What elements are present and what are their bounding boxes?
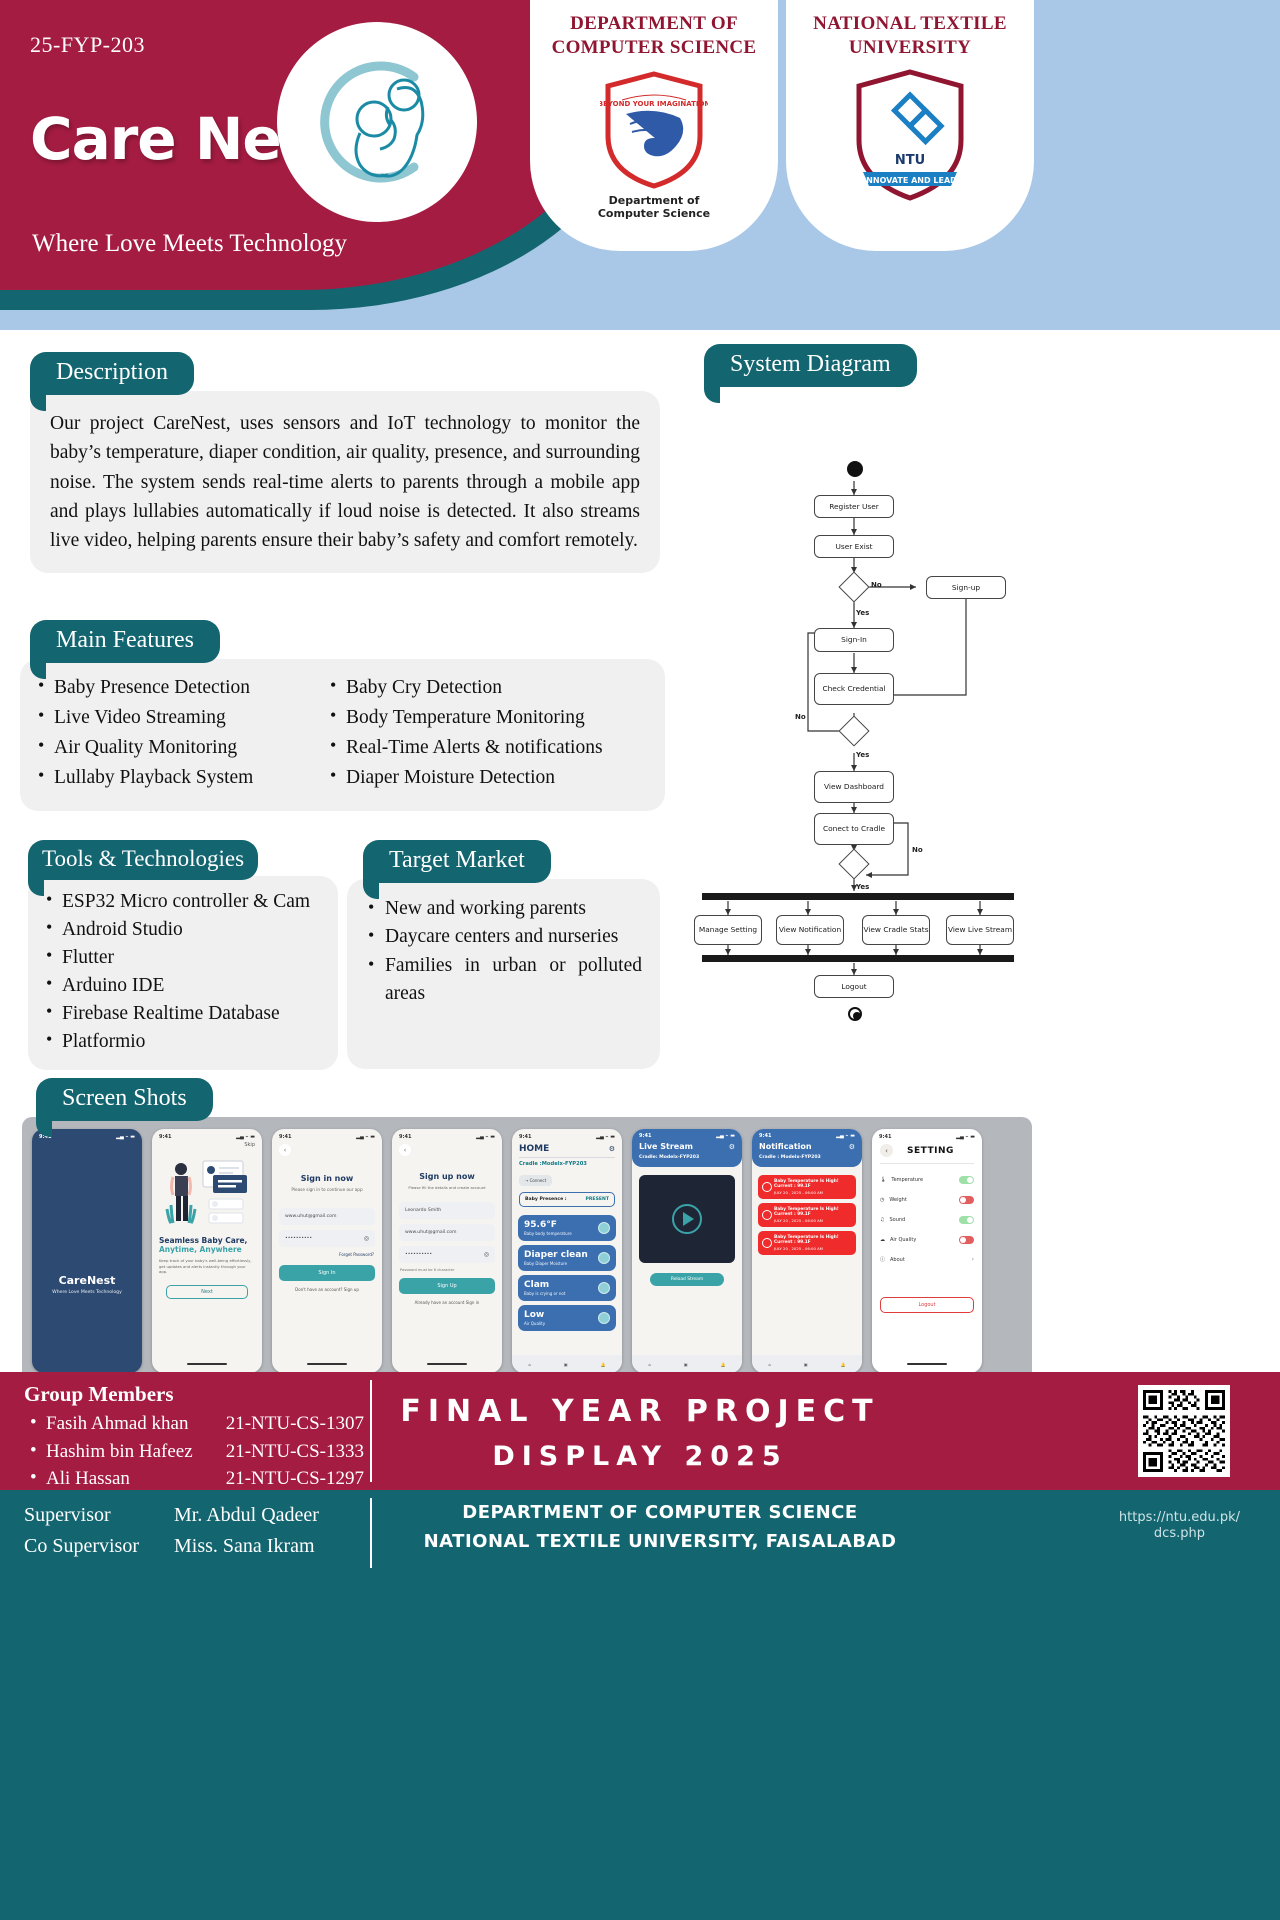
weight-icon: ◷ — [880, 1197, 884, 1203]
alert-current: Current : 99.1F — [774, 1212, 851, 1217]
setting-row-sound[interactable]: ♫Sound — [880, 1210, 974, 1230]
diaper-card: Diaper clean Baby Diaper Moisture — [518, 1245, 616, 1271]
member-name: Fasih Ahmad khan — [46, 1410, 189, 1438]
sign-in-title: Sign in now — [272, 1174, 382, 1183]
target-market-section: Target Market New and working parents Da… — [347, 840, 660, 1069]
home-indicator — [392, 1355, 502, 1373]
logout-button[interactable]: Logout — [880, 1297, 974, 1313]
status-time: 9:41 — [759, 1133, 771, 1139]
setting-row-weight[interactable]: ◷Weight — [880, 1190, 974, 1210]
description-heading: Description — [30, 352, 194, 395]
list-item: Platformio — [42, 1028, 322, 1056]
dept-title-line1: DEPARTMENT OF — [530, 12, 778, 36]
table-row: Fasih Ahmad khan 21-NTU-CS-1307 — [24, 1410, 364, 1438]
status-bar: 9:41 ▂▄ ⌁ ▬ — [272, 1129, 382, 1142]
cry-card: Clam Baby is crying or not — [518, 1275, 616, 1301]
table-row: Ali Hassan 21-NTU-CS-1297 — [24, 1465, 364, 1493]
phone-screenshot-notification: 9:41 ▂▄ ⌁ ▬ Notification ⚙ Cradle : Mode… — [752, 1129, 862, 1373]
footer-divider-top — [370, 1380, 372, 1482]
list-item[interactable]: Baby Temperature Is High! Current : 99.1… — [758, 1175, 856, 1199]
cs-department-shield-icon: BEYOND YOUR IMAGINATION — [530, 70, 778, 190]
list-item: Firebase Realtime Database — [42, 1000, 322, 1028]
tools-heading: Tools & Technologies — [28, 840, 258, 880]
flow-node-register-user: Register User — [814, 495, 894, 518]
onboarding-illustration-icon — [152, 1148, 262, 1234]
main-features-section: Main Features Baby Presence Detection Li… — [20, 620, 665, 811]
poster-header: 25-FYP-203 Care Nest Where Love Meets Te… — [0, 0, 1280, 330]
flow-end-node-core — [853, 1012, 861, 1020]
phone-screenshot-sign-up: 9:41 ▂▄ ⌁ ▬ ‹ Sign up now Please fill th… — [392, 1129, 502, 1373]
flow-node-view-notification: View Notification — [776, 915, 844, 945]
group-members-block: Group Members Fasih Ahmad khan 21-NTU-CS… — [24, 1382, 364, 1493]
cradle-label: Cradle : Modelx-FYP203 — [759, 1155, 855, 1160]
status-icons: ▂▄ ⌁ ▬ — [956, 1134, 975, 1140]
air-quality-label: Air Quality — [524, 1321, 610, 1326]
notification-header: 9:41 ▂▄ ⌁ ▬ Notification ⚙ Cradle : Mode… — [752, 1129, 862, 1167]
list-item: Real-Time Alerts & notifications — [326, 733, 603, 763]
status-time: 9:41 — [519, 1134, 531, 1140]
flow-node-view-dashboard: View Dashboard — [814, 771, 894, 803]
list-item: ESP32 Micro controller & Cam — [42, 888, 322, 916]
flow-join-bar — [702, 955, 1014, 962]
flow-label-yes-1: Yes — [856, 609, 869, 617]
setting-row-about[interactable]: ⓘAbout › — [880, 1250, 974, 1269]
sign-up-subtitle: Please fill the details and create accou… — [392, 1185, 502, 1190]
cosupervisor-name: Miss. Sana Ikram — [174, 1531, 315, 1562]
project-id: 25-FYP-203 — [30, 32, 145, 58]
target-market-body: New and working parents Daycare centers … — [347, 879, 660, 1069]
footer-dept-line2: NATIONAL TEXTILE UNIVERSITY, FAISALABAD — [390, 1531, 930, 1552]
live-stream-title: Live Stream — [639, 1142, 693, 1151]
tools-body: ESP32 Micro controller & Cam Android Stu… — [28, 876, 338, 1070]
alert-list: Baby Temperature Is High! Current : 99.1… — [752, 1175, 862, 1255]
divider — [519, 1157, 615, 1158]
footer-url-line1: https://ntu.edu.pk/ — [1119, 1510, 1240, 1526]
status-icons: ▂▄ ⌁ ▬ — [236, 1134, 255, 1140]
fyp-display-block: FINAL YEAR PROJECT DISPLAY 2025 — [390, 1394, 890, 1472]
home-bar — [187, 1363, 227, 1365]
cradle-label: Cradle: Modelx-FYP203 — [639, 1155, 735, 1160]
email-field[interactable]: www.uhut@gmail.com — [399, 1224, 495, 1241]
list-item: Baby Presence Detection — [34, 673, 326, 703]
status-time: 9:41 — [279, 1134, 291, 1140]
flow-label-yes-3: Yes — [856, 883, 869, 891]
status-icons: ▂▄ ⌁ ▬ — [596, 1134, 615, 1140]
temperature-card: 95.6°F Baby body temperature — [518, 1215, 616, 1241]
group-members-heading: Group Members — [24, 1382, 364, 1407]
list-item: Arduino IDE — [42, 972, 322, 1000]
info-icon: ⓘ — [880, 1256, 885, 1263]
email-field[interactable]: www.uhut@gmail.com — [279, 1208, 375, 1225]
sign-in-subtitle: Please sign in to continue our app — [272, 1187, 382, 1192]
forgot-password-link[interactable]: Forget Password? — [272, 1252, 382, 1257]
fyp-line2: DISPLAY 2025 — [390, 1441, 890, 1472]
ntu-shield-icon: NTU INNOVATE AND LEAD — [786, 68, 1034, 203]
list-item: Diaper Moisture Detection — [326, 763, 603, 793]
temperature-toggle[interactable] — [959, 1176, 974, 1184]
nav-video-icon[interactable]: ▣ — [564, 1362, 568, 1367]
member-roll: 21-NTU-CS-1307 — [218, 1410, 364, 1438]
eye-off-icon[interactable]: ◎ — [364, 1235, 369, 1242]
sound-toggle[interactable] — [959, 1216, 974, 1224]
droplet-icon — [598, 1252, 610, 1264]
status-bar: 9:41 ▂▄ ⌁ ▬ — [392, 1129, 502, 1142]
air-quality-toggle[interactable] — [959, 1236, 974, 1244]
phone-screenshot-sign-in: 9:41 ▂▄ ⌁ ▬ ‹ Sign in now Please sign in… — [272, 1129, 382, 1373]
nav-video-icon[interactable]: ▣ — [684, 1362, 688, 1367]
department-panel: DEPARTMENT OF COMPUTER SCIENCE BEYOND YO… — [530, 0, 778, 251]
flow-node-connect-cradle-label: Conect to Cradle — [823, 824, 885, 833]
password-value: •••••••••• — [285, 1236, 312, 1241]
home-bar — [307, 1363, 347, 1365]
features-column-right: Baby Cry Detection Body Temperature Moni… — [326, 673, 603, 793]
thermometer-icon: 🌡 — [880, 1177, 886, 1183]
nav-alerts-icon[interactable]: 🔔 — [601, 1362, 606, 1367]
setting-label: About — [890, 1257, 905, 1263]
flow-node-manage-setting-label: Manage Setting — [699, 925, 757, 934]
flow-node-view-cradle-stats: View Cradle Stats — [862, 915, 930, 945]
status-time: 9:41 — [639, 1133, 651, 1139]
list-item: Android Studio — [42, 916, 322, 944]
flow-node-view-live-stream: View Live Stream — [946, 915, 1014, 945]
status-icons: ▂▄ ⌁ ▬ — [716, 1133, 735, 1139]
member-name: Hashim bin Hafeez — [46, 1438, 193, 1466]
supervisor-row: Supervisor Mr. Abdul Qadeer — [24, 1500, 319, 1531]
flow-start-node — [847, 461, 863, 477]
target-market-heading: Target Market — [363, 840, 551, 883]
password-hint: Password must be 8 character — [392, 1268, 502, 1272]
list-item: Families in urban or polluted areas — [363, 952, 642, 1009]
password-field[interactable]: •••••••••• ◎ — [399, 1246, 495, 1263]
sign-up-title: Sign up now — [392, 1172, 502, 1181]
nav-video-icon[interactable]: ▣ — [804, 1362, 808, 1367]
flow-node-check-credential: Check Credential — [814, 673, 894, 705]
alert-time: JULY 20 , 2025 - 06:00 AM — [774, 1218, 851, 1223]
temperature-label: Baby body temperature — [524, 1231, 610, 1236]
flow-node-view-notification-label: View Notification — [779, 925, 841, 934]
flow-label-no-1: No — [871, 581, 882, 589]
flow-node-view-live-stream-label: View Live Stream — [948, 925, 1012, 934]
svg-text:NTU: NTU — [895, 153, 925, 168]
tools-section: Tools & Technologies ESP32 Micro control… — [28, 840, 338, 1070]
gear-icon[interactable]: ⚙ — [729, 1143, 735, 1151]
dept-logo-caption-2: Computer Science — [530, 207, 778, 220]
flow-label-no-3: No — [912, 846, 923, 854]
diaper-label: Baby Diaper Moisture — [524, 1261, 610, 1266]
screenshots-section: Screen Shots 9:41 ▂▄ ⌁ ▬ CareNest Where … — [22, 1078, 1032, 1385]
main-features-heading: Main Features — [30, 620, 220, 663]
flow-node-manage-setting: Manage Setting — [694, 915, 762, 945]
live-stream-header: 9:41 ▂▄ ⌁ ▬ Live Stream ⚙ Cradle: Modelx… — [632, 1129, 742, 1167]
mother-and-baby-icon — [277, 22, 477, 222]
member-roll: 21-NTU-CS-1333 — [218, 1438, 364, 1466]
list-item[interactable]: Baby Temperature Is High! Current : 99.1… — [758, 1203, 856, 1227]
onboarding-title-line2: Anytime, Anywhere — [159, 1245, 255, 1254]
splash-center: CareNest Where Love Meets Technology — [32, 1274, 142, 1295]
flow-node-check-credential-label: Check Credential — [822, 684, 885, 693]
cosupervisor-label: Co Supervisor — [24, 1531, 174, 1562]
features-column-left: Baby Presence Detection Live Video Strea… — [34, 673, 326, 793]
dept-logo-caption-1: Department of — [530, 194, 778, 207]
air-quality-icon: ☁ — [880, 1237, 885, 1243]
reload-stream-button[interactable]: Reload Stream — [650, 1273, 724, 1286]
system-diagram-heading: System Diagram — [704, 344, 917, 387]
sign-up-button[interactable]: Sign Up — [399, 1278, 495, 1294]
footer-dept-line1: DEPARTMENT OF COMPUTER SCIENCE — [390, 1502, 930, 1523]
flow-node-sign-up: Sign-up — [926, 576, 1006, 599]
cry-label: Baby is crying or not — [524, 1291, 610, 1296]
bottom-nav[interactable]: ⌂ ▣ 🔔 — [512, 1355, 622, 1373]
setting-label: Weight — [889, 1197, 906, 1203]
name-field[interactable]: Leonardo Smith — [399, 1202, 495, 1219]
phone-screenshot-home: 9:41 ▂▄ ⌁ ▬ HOME ⚙ Cradle :Modelx-FYP203… — [512, 1129, 622, 1373]
screenshots-heading: Screen Shots — [36, 1078, 213, 1121]
chevron-right-icon[interactable]: › — [972, 1256, 974, 1263]
list-item: New and working parents — [363, 895, 642, 923]
chevron-left-icon[interactable]: ‹ — [880, 1144, 893, 1157]
supervisor-block: Supervisor Mr. Abdul Qadeer Co Superviso… — [24, 1500, 319, 1562]
status-icons: ▂▄ ⌁ ▬ — [356, 1134, 375, 1140]
air-quality-card: Low Air Quality — [518, 1305, 616, 1331]
poster-tagline: Where Love Meets Technology — [32, 230, 347, 258]
univ-title-line1: NATIONAL TEXTILE — [786, 12, 1034, 36]
connect-button[interactable]: → Connect — [519, 1175, 552, 1186]
thermometer-icon — [598, 1222, 610, 1234]
list-item[interactable]: Baby Temperature Is High! Current : 99.1… — [758, 1231, 856, 1255]
svg-text:BEYOND YOUR IMAGINATION: BEYOND YOUR IMAGINATION — [600, 100, 708, 108]
phone-screenshot-splash: 9:41 ▂▄ ⌁ ▬ CareNest Where Love Meets Te… — [32, 1129, 142, 1373]
baby-presence-card: Baby Presence : PRESENT — [519, 1192, 615, 1207]
app-name: CareNest — [32, 1274, 142, 1287]
home-indicator — [872, 1355, 982, 1373]
status-bar: 9:41 ▂▄ ⌁ ▬ — [152, 1129, 262, 1142]
cosupervisor-row: Co Supervisor Miss. Sana Ikram — [24, 1531, 319, 1562]
air-icon — [598, 1312, 610, 1324]
eye-off-icon[interactable]: ◎ — [484, 1251, 489, 1258]
description-section: Description Our project CareNest, uses s… — [30, 352, 660, 573]
flow-node-logout: Logout — [814, 975, 894, 998]
list-item: Lullaby Playback System — [34, 763, 326, 793]
footer-divider-bottom — [370, 1498, 372, 1568]
list-item: Baby Cry Detection — [326, 673, 603, 703]
nav-home-icon[interactable]: ⌂ — [768, 1362, 771, 1367]
gear-icon[interactable]: ⚙ — [849, 1143, 855, 1151]
status-time: 9:41 — [159, 1134, 171, 1140]
alert-current: Current : 99.1F — [774, 1184, 851, 1189]
status-bar: 9:41 ▂▄ ⌁ ▬ — [872, 1129, 982, 1142]
flow-label-no-2: No — [795, 713, 806, 721]
flow-label-yes-2: Yes — [856, 751, 869, 759]
status-icons: ▂▄ ⌁ ▬ — [836, 1133, 855, 1139]
sound-icon: ♫ — [880, 1217, 884, 1223]
phone-screenshot-onboarding: 9:41 ▂▄ ⌁ ▬ Skip — [152, 1129, 262, 1373]
footer-url[interactable]: https://ntu.edu.pk/ dcs.php — [1119, 1510, 1240, 1543]
home-indicator — [272, 1355, 382, 1373]
alert-current: Current : 99.1F — [774, 1240, 851, 1245]
video-player[interactable] — [639, 1175, 735, 1263]
status-time: 9:41 — [879, 1134, 891, 1140]
dept-title-line2: COMPUTER SCIENCE — [530, 36, 778, 60]
system-diagram-section: System Diagram — [690, 344, 1030, 998]
play-icon[interactable] — [672, 1204, 702, 1234]
weight-toggle[interactable] — [959, 1196, 974, 1204]
phone-screenshot-live-stream: 9:41 ▂▄ ⌁ ▬ Live Stream ⚙ Cradle: Modelx… — [632, 1129, 742, 1373]
university-panel: NATIONAL TEXTILE UNIVERSITY NTU INNOVATE… — [786, 0, 1034, 251]
chevron-left-icon[interactable]: ‹ — [279, 1144, 291, 1156]
home-indicator — [152, 1355, 262, 1373]
sign-in-button[interactable]: Sign In — [279, 1265, 375, 1281]
description-body: Our project CareNest, uses sensors and I… — [30, 391, 660, 573]
list-item: Body Temperature Monitoring — [326, 703, 603, 733]
notification-title: Notification — [759, 1142, 812, 1151]
flow-fork-bar — [702, 893, 1014, 900]
status-bar: 9:41 ▂▄ ⌁ ▬ — [512, 1129, 622, 1142]
alert-time: JULY 20 , 2025 - 06:00 AM — [774, 1190, 851, 1195]
bottom-nav[interactable]: ⌂ ▣ 🔔 — [632, 1355, 742, 1373]
flow-end-node-ring — [848, 1007, 862, 1021]
next-button[interactable]: Next — [166, 1285, 248, 1299]
svg-text:INNOVATE AND LEAD: INNOVATE AND LEAD — [863, 176, 957, 185]
main-features-body: Baby Presence Detection Live Video Strea… — [20, 659, 665, 811]
chevron-left-icon[interactable]: ‹ — [399, 1144, 411, 1156]
member-name: Ali Hassan — [46, 1465, 130, 1493]
list-item: Daycare centers and nurseries — [363, 923, 642, 951]
home-title: HOME — [519, 1144, 549, 1154]
table-row: Hashim bin Hafeez 21-NTU-CS-1333 — [24, 1438, 364, 1466]
member-roll: 21-NTU-CS-1297 — [218, 1465, 364, 1493]
setting-label: Air Quality — [890, 1237, 916, 1243]
status-time: 9:41 — [399, 1134, 411, 1140]
onboarding-body: Keep track of your baby's well-being eff… — [159, 1258, 255, 1275]
alert-time: JULY 20 , 2025 - 06:00 AM — [774, 1246, 851, 1251]
presence-value: PRESENT — [586, 1197, 609, 1202]
setting-label: Temperature — [891, 1177, 923, 1183]
footer-url-line2: dcs.php — [1119, 1526, 1240, 1542]
supervisor-label: Supervisor — [24, 1500, 174, 1531]
onboarding-title-line1: Seamless Baby Care, — [159, 1236, 255, 1245]
sign-up-link[interactable]: Don't have an account? Sign up — [272, 1287, 382, 1292]
nav-home-icon[interactable]: ⌂ — [528, 1362, 531, 1367]
footer-department-block: DEPARTMENT OF COMPUTER SCIENCE NATIONAL … — [390, 1502, 930, 1552]
flow-node-sign-in: Sign-In — [814, 628, 894, 652]
fyp-line1: FINAL YEAR PROJECT — [390, 1394, 890, 1429]
sign-in-link[interactable]: Already have an account Sign in — [392, 1300, 502, 1305]
list-item: Air Quality Monitoring — [34, 733, 326, 763]
supervisor-name: Mr. Abdul Qadeer — [174, 1500, 319, 1531]
setting-title: SETTING — [907, 1146, 954, 1156]
list-item: Live Video Streaming — [34, 703, 326, 733]
cradle-label: Cradle :Modelx-FYP203 — [512, 1161, 622, 1167]
setting-row-air-quality[interactable]: ☁Air Quality — [880, 1230, 974, 1250]
screenshots-gallery: 9:41 ▂▄ ⌁ ▬ CareNest Where Love Meets Te… — [22, 1117, 1032, 1385]
password-value: •••••••••• — [405, 1252, 432, 1257]
flow-node-view-dashboard-label: View Dashboard — [824, 782, 884, 791]
nav-alerts-icon[interactable]: 🔔 — [841, 1362, 846, 1367]
bottom-nav[interactable]: ⌂ ▣ 🔔 — [752, 1355, 862, 1373]
divider — [880, 1163, 974, 1164]
flow-node-view-cradle-stats-label: View Cradle Stats — [863, 925, 928, 934]
poster-footer: Group Members Fasih Ahmad khan 21-NTU-CS… — [0, 1372, 1280, 1920]
setting-row-temperature[interactable]: 🌡Temperature — [880, 1170, 974, 1190]
home-bar — [427, 1363, 467, 1365]
flow-node-connect-cradle: Conect to Cradle — [814, 813, 894, 845]
flow-node-user-exist: User Exist — [814, 535, 894, 558]
status-icons: ▂▄ ⌁ ▬ — [116, 1134, 135, 1140]
status-icons: ▂▄ ⌁ ▬ — [476, 1134, 495, 1140]
phone-screenshot-setting: 9:41 ▂▄ ⌁ ▬ ‹ SETTING 🌡Temperature ◷Weig… — [872, 1129, 982, 1373]
presence-label: Baby Presence : — [525, 1197, 567, 1202]
sound-icon — [598, 1282, 610, 1294]
nav-home-icon[interactable]: ⌂ — [648, 1362, 651, 1367]
nav-alerts-icon[interactable]: 🔔 — [721, 1362, 726, 1367]
setting-label: Sound — [889, 1217, 905, 1223]
gear-icon[interactable]: ⚙ — [609, 1145, 615, 1153]
home-bar — [907, 1363, 947, 1365]
system-diagram-body: Register User User Exist No Yes Sign-up … — [690, 383, 1030, 998]
qr-code-icon[interactable] — [1138, 1385, 1230, 1477]
app-tagline: Where Love Meets Technology — [32, 1290, 142, 1295]
univ-title-line2: UNIVERSITY — [786, 36, 1034, 60]
password-field[interactable]: •••••••••• ◎ — [279, 1230, 375, 1247]
list-item: Flutter — [42, 944, 322, 972]
